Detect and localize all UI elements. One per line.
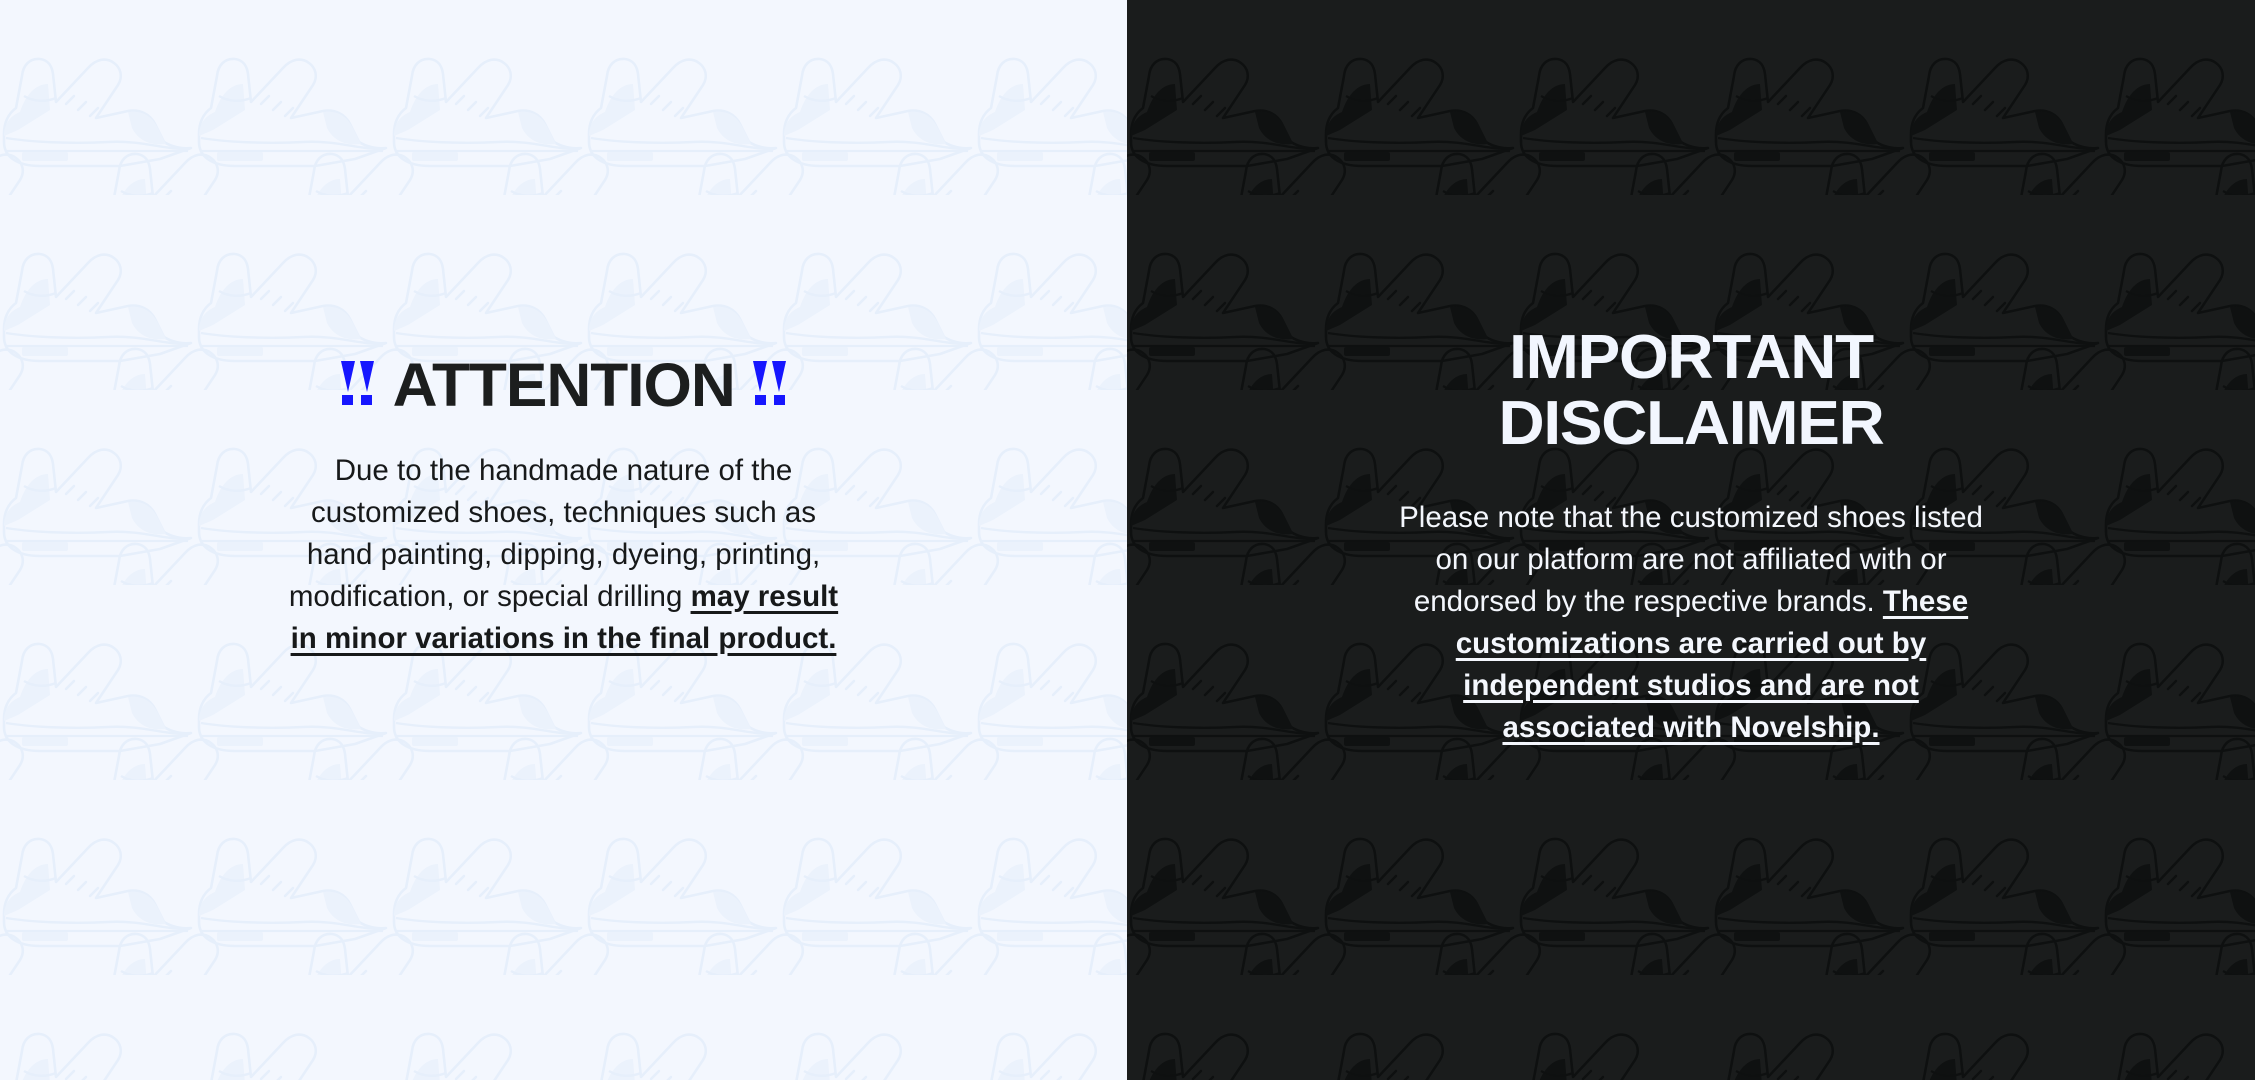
disclaimer-content: IMPORTANT DISCLAIMER Please note that th… (1381, 325, 2001, 749)
disclaimer-heading: IMPORTANT DISCLAIMER (1372, 325, 2011, 456)
double-exclamation-left-icon (341, 361, 374, 405)
disclaimer-panel: IMPORTANT DISCLAIMER Please note that th… (1127, 0, 2255, 1080)
disclaimer-heading-line-2: DISCLAIMER (1372, 391, 2011, 457)
disclaimer-banner: ATTENTION Due to the handmade nature of … (0, 0, 2255, 1080)
attention-body: Due to the handmade nature of the custom… (264, 450, 864, 659)
attention-content: ATTENTION Due to the handmade nature of … (264, 355, 864, 659)
double-exclamation-right-icon (753, 361, 786, 405)
attention-panel: ATTENTION Due to the handmade nature of … (0, 0, 1127, 1080)
attention-heading-text: ATTENTION (392, 355, 734, 416)
disclaimer-body: Please note that the customized shoes li… (1381, 497, 2001, 748)
disclaimer-heading-line-1: IMPORTANT (1372, 325, 2011, 391)
attention-heading: ATTENTION (264, 355, 864, 416)
